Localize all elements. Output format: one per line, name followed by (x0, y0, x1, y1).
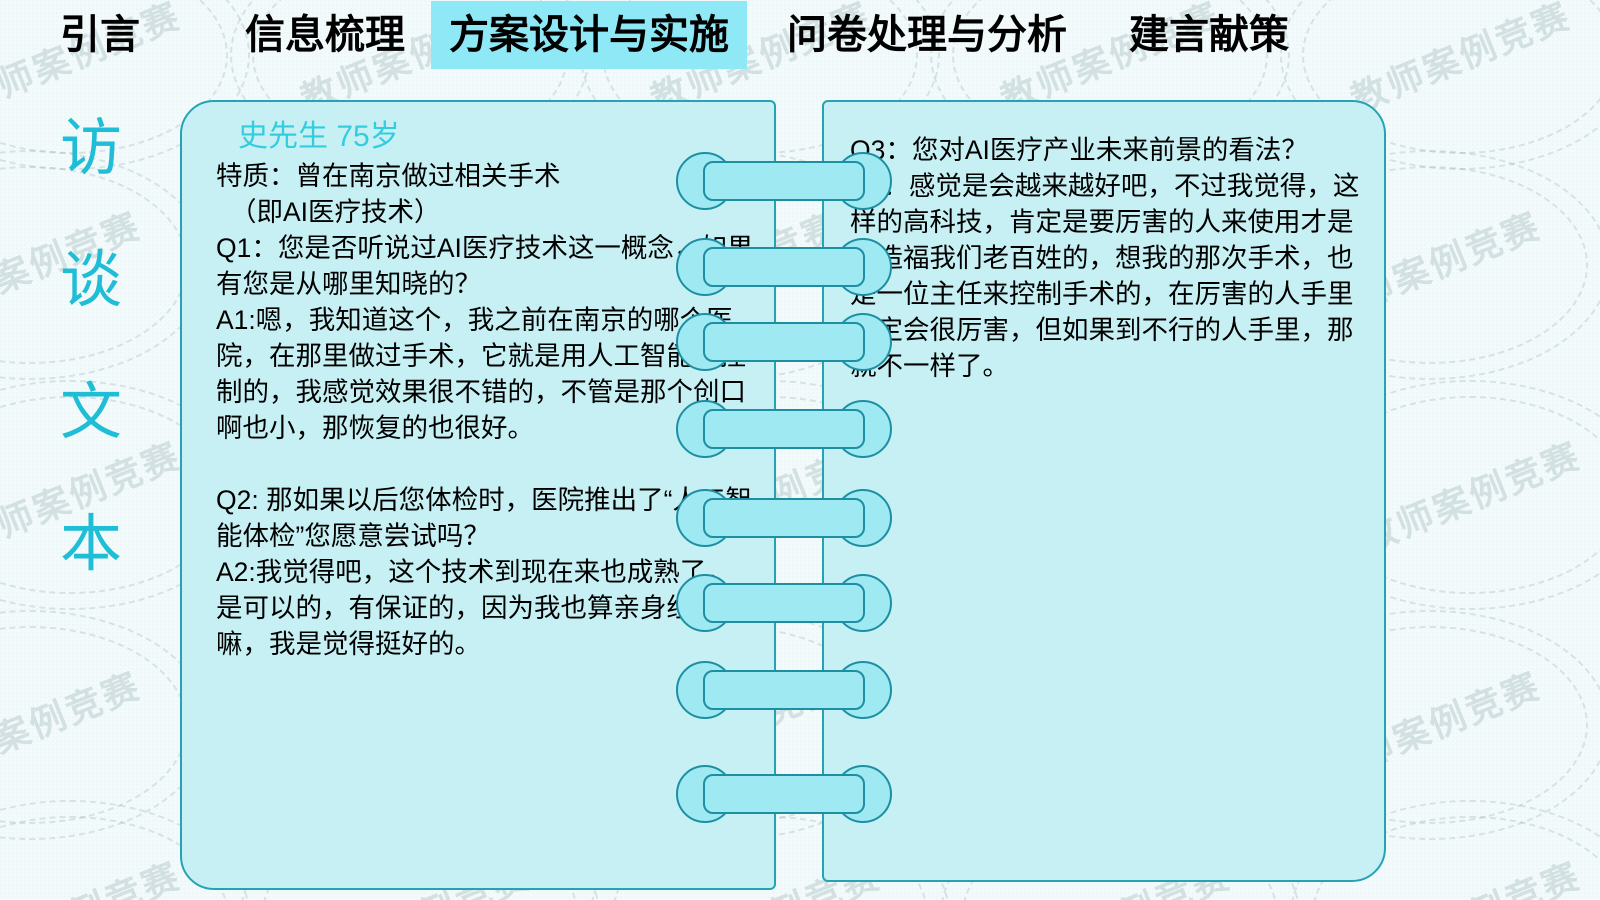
right-page-content: Q3：您对AI医疗产业未来前景的看法？ A3：感觉是会越来越好吧，不过我觉得，这… (824, 102, 1384, 394)
paragraph-spacer (216, 446, 758, 482)
trait-line-2: （即AI医疗技术） (216, 194, 758, 230)
notebook-page-left: 史先生 75岁 特质：曾在南京做过相关手术 （即AI医疗技术） Q1：您是否听说… (180, 100, 776, 890)
left-page-content: 史先生 75岁 特质：曾在南京做过相关手术 （即AI医疗技术） Q1：您是否听说… (182, 102, 774, 672)
sidebar-char-1: 访 (60, 118, 122, 180)
answer-2: A2:我觉得吧，这个技术到现在来也成熟了，是可以的，有保证的，因为我也算亲身经历… (216, 554, 758, 662)
nav-tab-intro[interactable]: 引言 (60, 1, 140, 69)
trait-line-1: 特质：曾在南京做过相关手术 (216, 158, 758, 194)
question-2: Q2: 那如果以后您体检时，医院推出了“人工智能体检”您愿意尝试吗？ (216, 482, 758, 554)
nav-tab-design-implementation[interactable]: 方案设计与实施 (431, 1, 747, 69)
answer-1: A1:嗯，我知道这个，我之前在南京的哪个医院，在那里做过手术，它就是用人工智能来… (216, 302, 758, 446)
notebook-page-right: Q3：您对AI医疗产业未来前景的看法？ A3：感觉是会越来越好吧，不过我觉得，这… (822, 100, 1386, 882)
top-navigation-bar: 引言 信息梳理 方案设计与实施 问卷处理与分析 建言献策 (0, 0, 1600, 70)
nav-tab-questionnaire-analysis[interactable]: 问卷处理与分析 (787, 1, 1067, 69)
nav-tab-information[interactable]: 信息梳理 (245, 1, 405, 69)
interviewee-name: 史先生 75岁 (216, 116, 758, 158)
question-1: Q1：您是否听说过AI医疗技术这一概念，如果有您是从哪里知晓的？ (216, 230, 758, 302)
sidebar-char-2: 谈 (60, 250, 122, 312)
sidebar-char-4: 本 (60, 514, 122, 576)
sidebar-vertical-title: 访 谈 文 本 (44, 118, 138, 646)
question-3: Q3：您对AI医疗产业未来前景的看法？ (850, 132, 1370, 168)
sidebar-char-3: 文 (60, 382, 122, 444)
answer-3: A3：感觉是会越来越好吧，不过我觉得，这样的高科技，肯定是要厉害的人来使用才是能… (850, 168, 1370, 384)
nav-tab-suggestions[interactable]: 建言献策 (1129, 1, 1289, 69)
